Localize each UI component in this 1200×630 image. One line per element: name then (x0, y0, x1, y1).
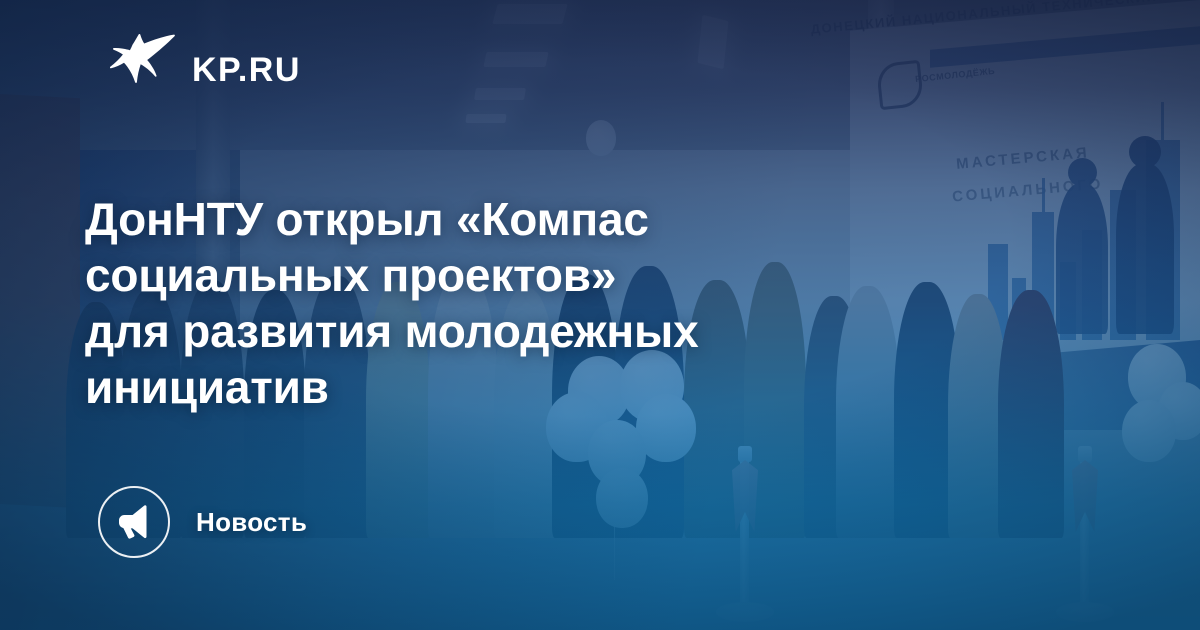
headline-line: ДонНТУ открыл «Компас (85, 191, 945, 247)
news-share-card: ДОНЕЦКИЙ НАЦИОНАЛЬНЫЙ ТЕХНИЧЕСКИЙ РОСМОЛ… (0, 0, 1200, 630)
headline: ДонНТУ открыл «Компас социальных проекто… (85, 191, 945, 415)
megaphone-icon-circle (98, 486, 170, 558)
headline-line: социальных проектов» (85, 247, 945, 303)
headline-line: для развития молодежных (85, 303, 945, 359)
site-logo-text: KP.RU (192, 53, 301, 87)
megaphone-icon (115, 505, 153, 539)
category-badge[interactable]: Новость (98, 486, 307, 558)
site-logo[interactable]: KP.RU (110, 34, 301, 106)
card-content: KP.RU ДонНТУ открыл «Компас социальных п… (0, 0, 1200, 630)
swallow-bird-icon (110, 34, 176, 106)
headline-line: инициатив (85, 359, 945, 415)
category-badge-label: Новость (196, 507, 307, 538)
